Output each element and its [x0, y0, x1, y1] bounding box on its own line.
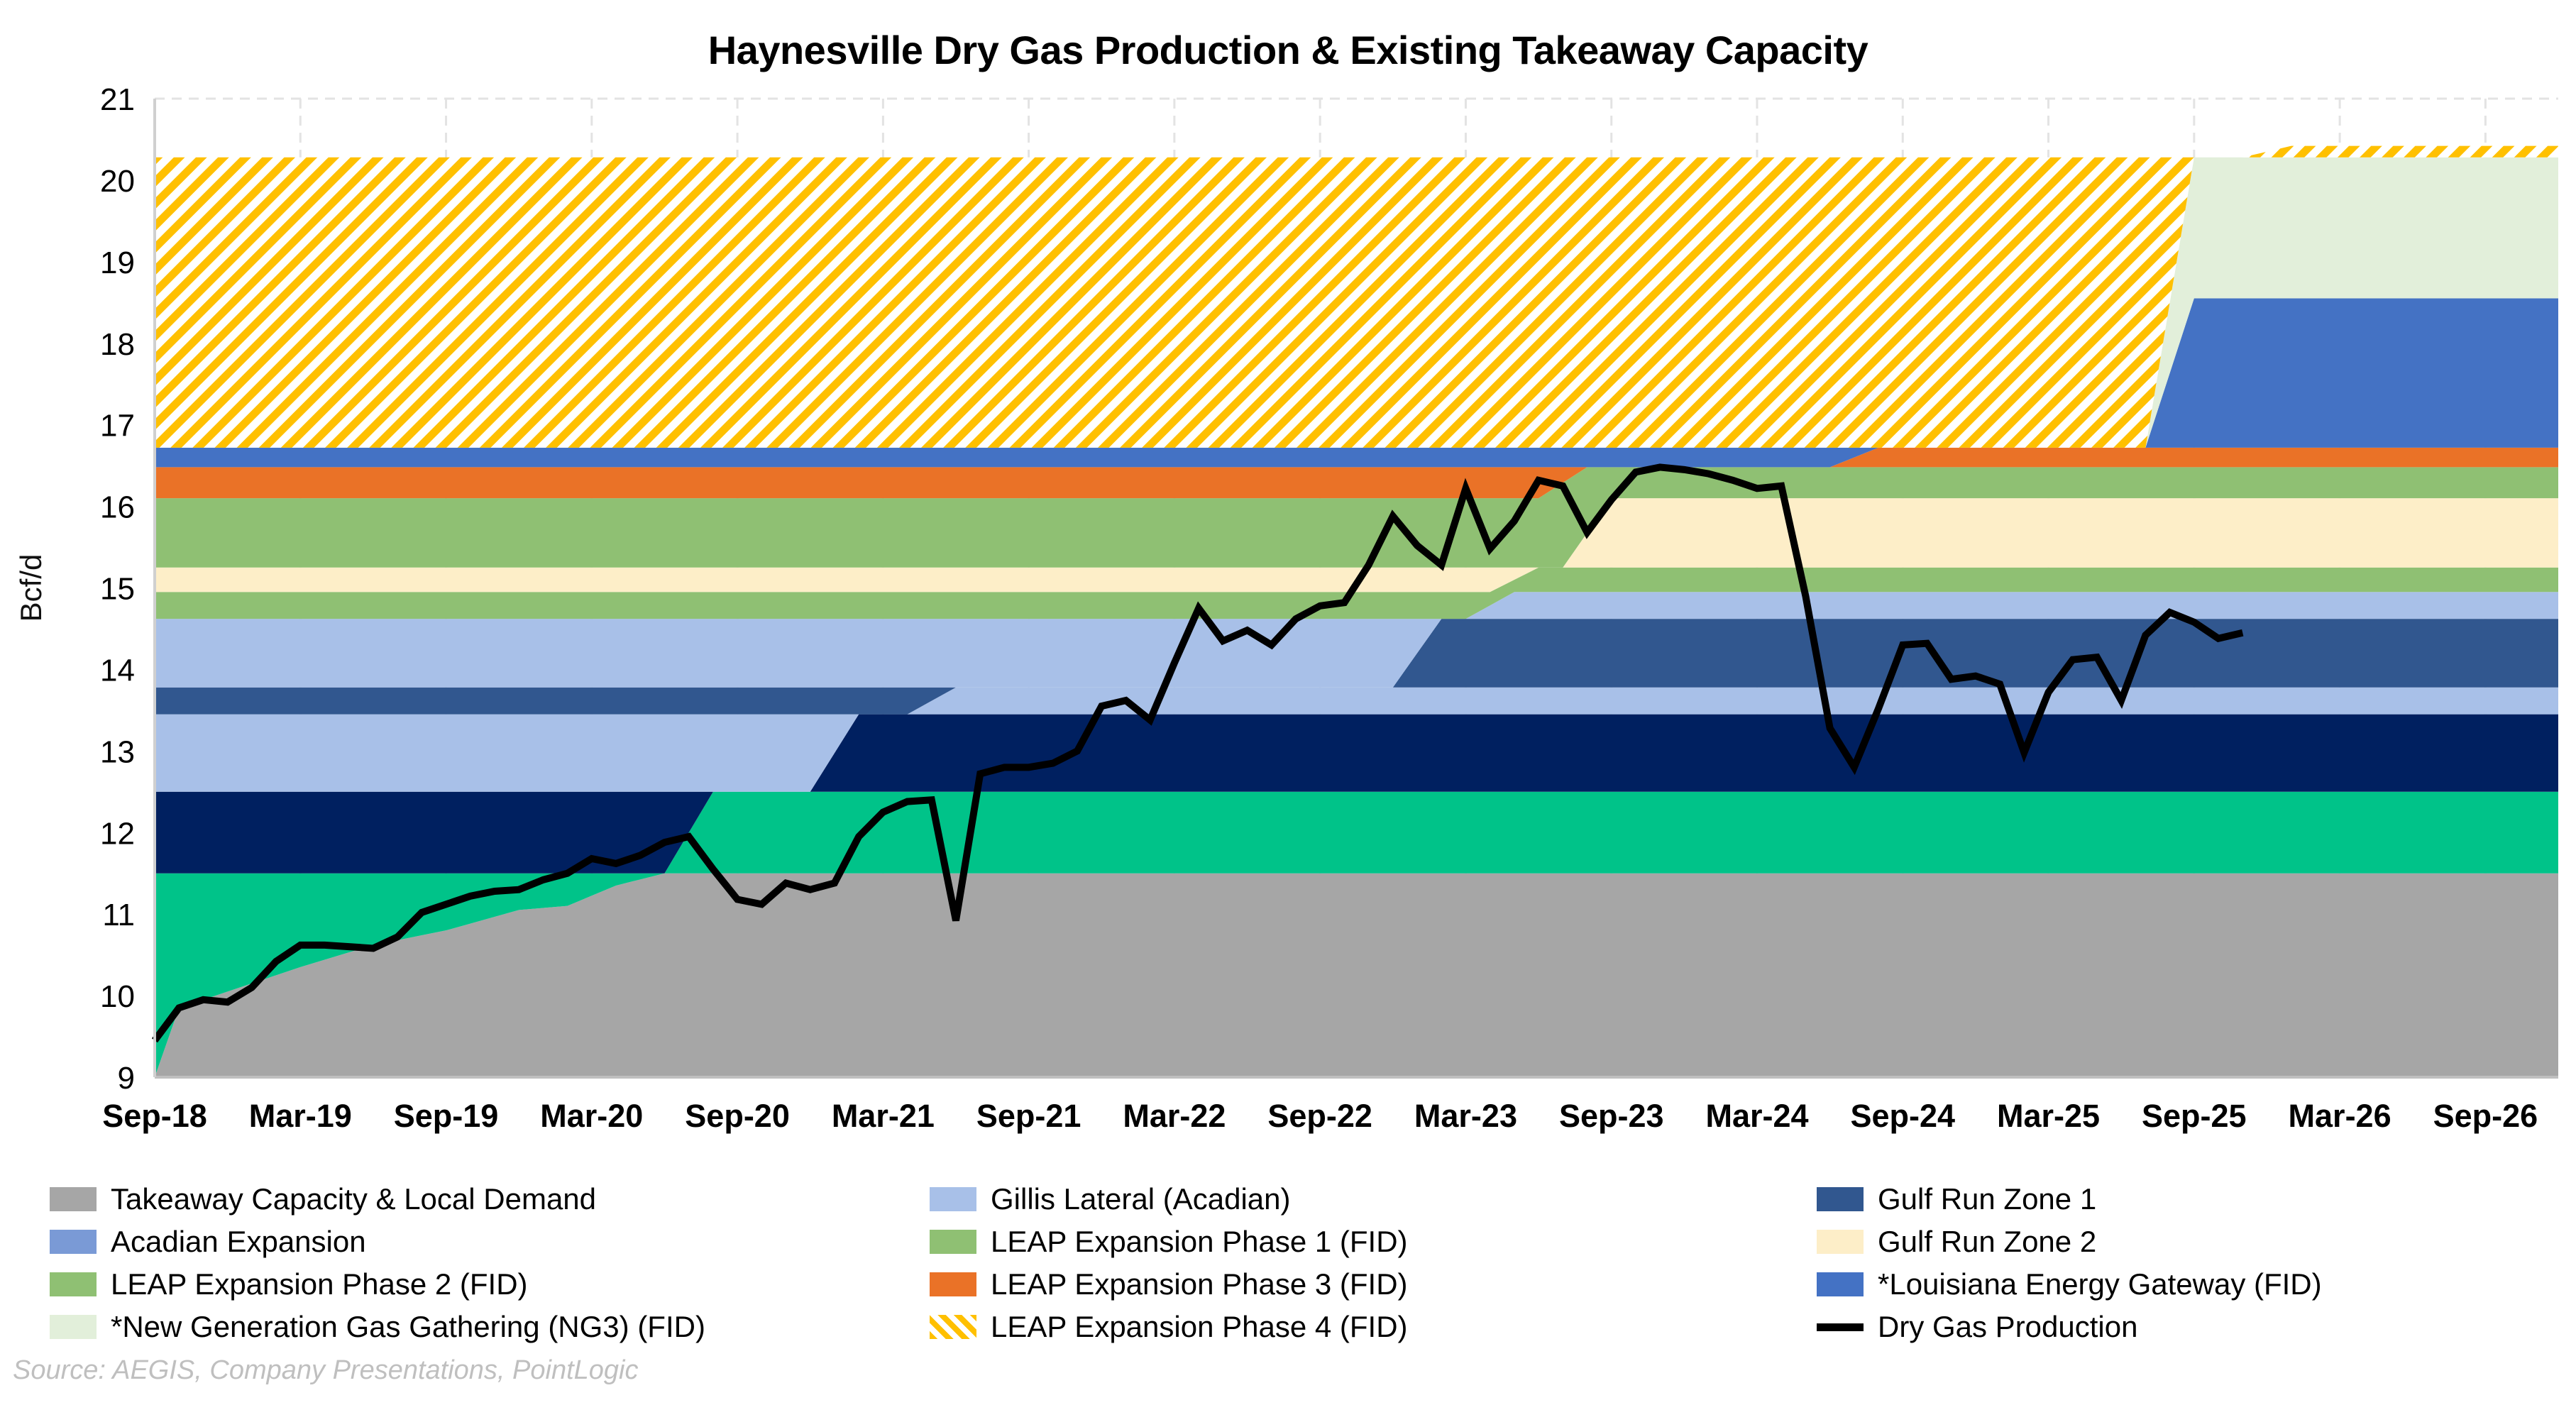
svg-text:Sep-23: Sep-23	[1559, 1098, 1664, 1134]
legend-item-label: *Louisiana Energy Gateway (FID)	[1878, 1267, 2322, 1301]
legend-item[interactable]: *Louisiana Energy Gateway (FID)	[1817, 1263, 2533, 1306]
swatch-gulf-run-zone-2-icon	[1817, 1230, 1864, 1254]
legend-item-label: Acadian Expansion	[111, 1225, 366, 1259]
svg-text:Sep-26: Sep-26	[2433, 1098, 2538, 1134]
legend-item[interactable]: Takeaway Capacity & Local Demand	[50, 1178, 930, 1221]
svg-text:Mar-25: Mar-25	[1997, 1098, 2100, 1134]
svg-text:12: 12	[100, 816, 135, 851]
svg-text:13: 13	[100, 734, 135, 769]
chart-legend: Takeaway Capacity & Local DemandGillis L…	[50, 1178, 2533, 1348]
svg-text:11: 11	[102, 898, 135, 932]
line-swatch-dry-gas-production-icon	[1817, 1323, 1864, 1331]
svg-text:Mar-24: Mar-24	[1705, 1098, 1808, 1134]
svg-text:Sep-21: Sep-21	[976, 1098, 1081, 1134]
legend-item[interactable]: *New Generation Gas Gathering (NG3) (FID…	[50, 1306, 930, 1348]
svg-text:Mar-20: Mar-20	[540, 1098, 643, 1134]
svg-text:Mar-23: Mar-23	[1414, 1098, 1517, 1134]
svg-text:Sep-19: Sep-19	[394, 1098, 499, 1134]
svg-text:16: 16	[100, 490, 135, 525]
hatch-swatch-leap-expansion-phase-4-fid-icon	[930, 1315, 976, 1339]
chart-root: Haynesville Dry Gas Production & Existin…	[0, 0, 2576, 1405]
svg-text:Mar-21: Mar-21	[832, 1098, 935, 1134]
swatch-takeaway-capacity-local-demand-icon	[50, 1187, 97, 1211]
legend-item[interactable]: Gulf Run Zone 1	[1817, 1178, 2533, 1221]
swatch-louisiana-energy-gateway-fid-icon	[1817, 1272, 1864, 1296]
swatch-leap-expansion-phase-2-fid-icon	[50, 1272, 97, 1296]
source-note: Source: AEGIS, Company Presentations, Po…	[13, 1355, 639, 1386]
legend-item[interactable]: LEAP Expansion Phase 3 (FID)	[930, 1263, 1817, 1306]
svg-text:15: 15	[100, 572, 135, 607]
legend-item-label: Gillis Lateral (Acadian)	[991, 1182, 1291, 1216]
legend-item-label: Takeaway Capacity & Local Demand	[111, 1182, 596, 1216]
legend-item[interactable]: LEAP Expansion Phase 4 (FID)	[930, 1306, 1817, 1348]
swatch-acadian-expansion-icon	[50, 1230, 97, 1254]
svg-text:18: 18	[100, 327, 135, 362]
svg-text:Sep-22: Sep-22	[1267, 1098, 1372, 1134]
swatch-leap-expansion-phase-1-fid-icon	[930, 1230, 976, 1254]
legend-item[interactable]: LEAP Expansion Phase 2 (FID)	[50, 1263, 930, 1306]
svg-text:19: 19	[100, 246, 135, 280]
svg-text:Sep-25: Sep-25	[2142, 1098, 2247, 1134]
svg-text:Sep-18: Sep-18	[102, 1098, 207, 1134]
svg-text:14: 14	[100, 653, 135, 688]
stacked-capacity-bands	[155, 146, 2558, 1077]
legend-item-label: LEAP Expansion Phase 4 (FID)	[991, 1310, 1408, 1344]
svg-text:Sep-24: Sep-24	[1850, 1098, 1955, 1134]
legend-item-label: Dry Gas Production	[1878, 1310, 2137, 1344]
svg-text:21: 21	[100, 82, 135, 117]
y-axis-title: Bcf/d	[14, 554, 48, 622]
svg-text:17: 17	[100, 409, 135, 443]
svg-text:9: 9	[118, 1061, 135, 1096]
legend-item-label: *New Generation Gas Gathering (NG3) (FID…	[111, 1310, 705, 1344]
svg-text:Mar-19: Mar-19	[249, 1098, 352, 1134]
svg-text:Mar-22: Mar-22	[1123, 1098, 1226, 1134]
legend-item[interactable]: Gulf Run Zone 2	[1817, 1221, 2533, 1263]
swatch-new-generation-gas-gathering-ng3-fid-icon	[50, 1315, 97, 1339]
legend-item-label: LEAP Expansion Phase 2 (FID)	[111, 1267, 528, 1301]
legend-item[interactable]: Acadian Expansion	[50, 1221, 930, 1263]
legend-item[interactable]: Gillis Lateral (Acadian)	[930, 1178, 1817, 1221]
legend-item[interactable]: LEAP Expansion Phase 1 (FID)	[930, 1221, 1817, 1263]
svg-text:Mar-26: Mar-26	[2289, 1098, 2391, 1134]
legend-item-label: LEAP Expansion Phase 1 (FID)	[991, 1225, 1408, 1259]
legend-item-label: LEAP Expansion Phase 3 (FID)	[991, 1267, 1408, 1301]
legend-item[interactable]: Dry Gas Production	[1817, 1306, 2533, 1348]
svg-text:10: 10	[100, 979, 135, 1014]
swatch-gulf-run-zone-1-icon	[1817, 1187, 1864, 1211]
legend-item-label: Gulf Run Zone 2	[1878, 1225, 2096, 1259]
swatch-leap-expansion-phase-3-fid-icon	[930, 1272, 976, 1296]
svg-text:20: 20	[100, 164, 135, 199]
svg-text:Sep-20: Sep-20	[685, 1098, 790, 1134]
legend-item-label: Gulf Run Zone 1	[1878, 1182, 2096, 1216]
swatch-gillis-lateral-acadian-icon	[930, 1187, 976, 1211]
